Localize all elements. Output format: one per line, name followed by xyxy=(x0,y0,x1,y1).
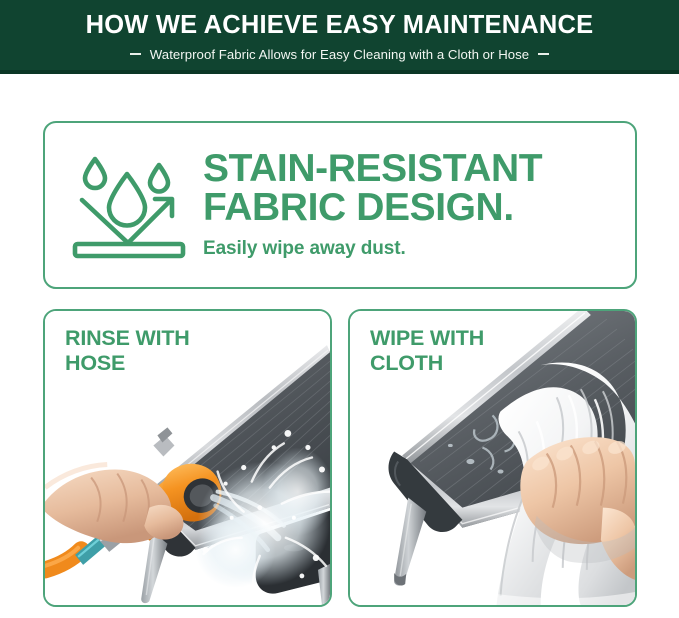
page-subtitle-row: Waterproof Fabric Allows for Easy Cleani… xyxy=(130,48,549,61)
dash-right-icon xyxy=(538,53,549,55)
feature-card: STAIN-RESISTANT FABRIC DESIGN. Easily wi… xyxy=(43,121,637,289)
dash-left-icon xyxy=(130,53,141,55)
page-title: HOW WE ACHIEVE EASY MAINTENANCE xyxy=(86,13,594,39)
page-header-band: HOW WE ACHIEVE EASY MAINTENANCE Waterpro… xyxy=(0,0,679,74)
hand-spraying-hose-on-patio-furniture xyxy=(45,311,330,605)
method-card-rinse-with-hose: RINSE WITH HOSE xyxy=(43,309,332,607)
feature-heading-line-2: FABRIC DESIGN. xyxy=(203,189,542,228)
water-repellent-icon xyxy=(69,147,189,263)
hand-wiping-patio-furniture-with-white-cloth xyxy=(350,311,635,605)
feature-subtext: Easily wipe away dust. xyxy=(203,238,542,260)
feature-text-block: STAIN-RESISTANT FABRIC DESIGN. Easily wi… xyxy=(203,150,542,260)
method-card-wipe-with-cloth: WIPE WITH CLOTH xyxy=(348,309,637,607)
page-subtitle: Waterproof Fabric Allows for Easy Cleani… xyxy=(150,48,529,61)
feature-heading-line-1: STAIN-RESISTANT xyxy=(203,150,542,189)
